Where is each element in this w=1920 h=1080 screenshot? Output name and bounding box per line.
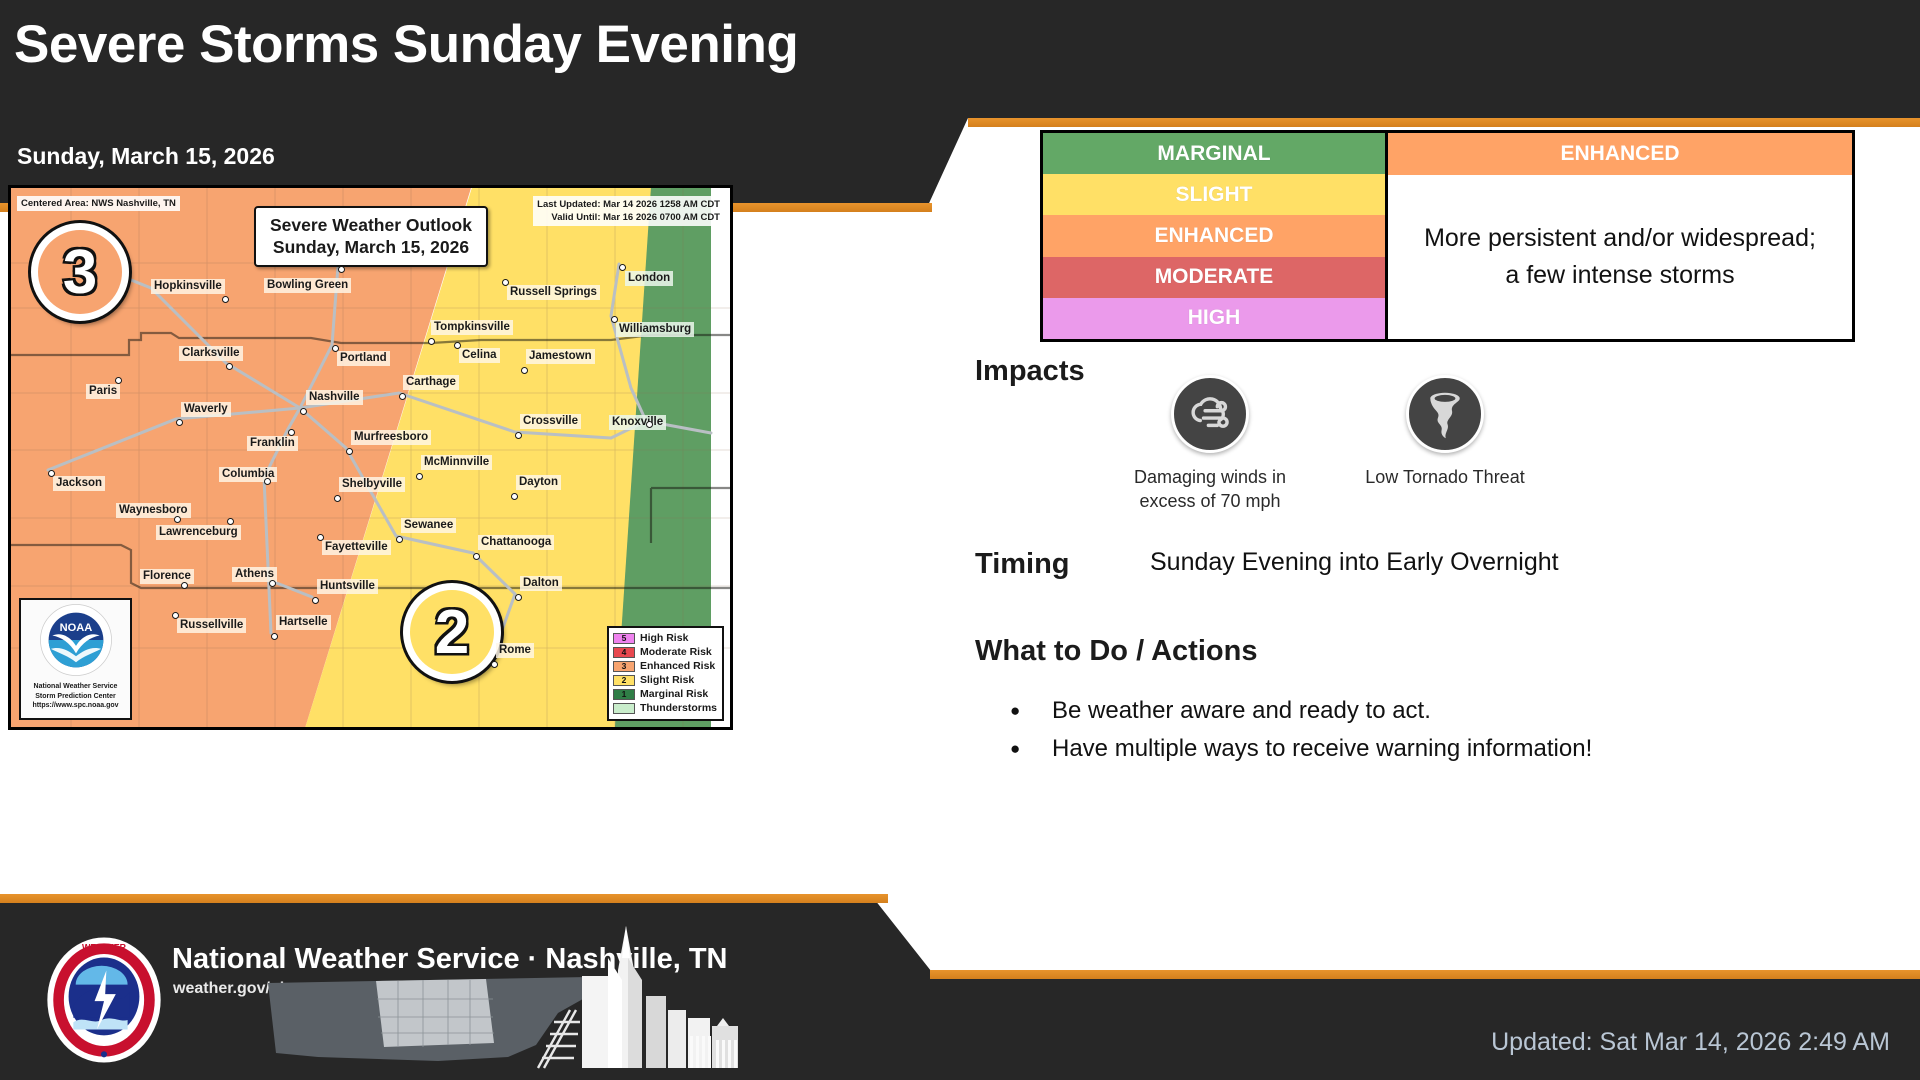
city-marker-dot [428, 338, 435, 345]
map-valid-until: Valid Until: Mar 16 2026 0700 AM CDT [537, 211, 720, 224]
risk-level-table: MARGINALSLIGHTENHANCEDMODERATEHIGH ENHAN… [1040, 130, 1855, 342]
city-marker-dot [181, 582, 188, 589]
tornado-icon [1406, 375, 1484, 453]
map-risk-legend: 5High Risk4Moderate Risk3Enhanced Risk2S… [607, 626, 724, 721]
risk-scale-row-slight: SLIGHT [1043, 174, 1385, 215]
map-legend-row: 2Slight Risk [613, 673, 717, 687]
map-last-updated: Last Updated: Mar 14 2026 1258 AM CDT [537, 198, 720, 211]
city-label: London [625, 271, 673, 286]
city-label: Jamestown [526, 349, 595, 364]
map-legend-row: 5High Risk [613, 631, 717, 645]
city-label: Fayetteville [322, 540, 391, 555]
city-label: Sewanee [401, 518, 456, 533]
risk-badge-3: 3 [31, 223, 129, 321]
city-marker-dot [222, 296, 229, 303]
map-centered-area-label: Centered Area: NWS Nashville, TN [17, 196, 180, 211]
city-marker-dot [332, 345, 339, 352]
city-marker-dot [416, 473, 423, 480]
map-title-line2: Sunday, March 15, 2026 [270, 236, 472, 258]
city-marker-dot [346, 448, 353, 455]
city-label: Paris [86, 384, 120, 399]
impacts-heading: Impacts [975, 355, 1085, 388]
city-label: Portland [337, 351, 390, 366]
city-marker-dot [473, 553, 480, 560]
city-label: Bowling Green [264, 278, 351, 293]
page-title: Severe Storms Sunday Evening [14, 14, 798, 75]
city-label: Tompkinsville [431, 320, 513, 335]
map-canvas: Centered Area: NWS Nashville, TN Last Up… [11, 188, 730, 727]
city-label: Carthage [403, 375, 459, 390]
city-label: Jackson [53, 476, 105, 491]
city-marker-dot [399, 393, 406, 400]
city-label: Nashville [306, 390, 363, 405]
legend-label: Marginal Risk [640, 688, 708, 700]
impact-item-tornado: Low Tornado Threat [1345, 375, 1545, 489]
legend-swatch: 5 [613, 633, 635, 644]
city-marker-dot [502, 279, 509, 286]
city-marker-dot [264, 478, 271, 485]
city-label: Rome [496, 643, 534, 658]
city-label: Knoxville [609, 415, 666, 430]
legend-swatch: 2 [613, 675, 635, 686]
city-marker-dot [515, 594, 522, 601]
city-label: Dalton [520, 576, 562, 591]
noaa-line-2: Storm Prediction Center [21, 692, 130, 702]
city-marker-dot [172, 612, 179, 619]
nws-seal-icon: WEATHER [45, 935, 163, 1065]
city-label: Lawrenceburg [156, 525, 241, 540]
legend-swatch [613, 703, 635, 714]
impact-item-wind: Damaging winds in excess of 70 mph [1110, 375, 1310, 513]
city-label: Franklin [247, 436, 298, 451]
city-marker-dot [396, 536, 403, 543]
noaa-seal-icon: NOAA [39, 603, 113, 677]
nashville-skyline-graphic [530, 918, 765, 1080]
impact-caption-wind: Damaging winds in excess of 70 mph [1110, 465, 1310, 513]
selected-risk-header: ENHANCED [1388, 133, 1852, 175]
wind-cloud-icon [1171, 375, 1249, 453]
city-label: Chattanooga [478, 535, 554, 550]
timing-value: Sunday Evening into Early Overnight [1150, 548, 1559, 577]
legend-label: Moderate Risk [640, 646, 712, 658]
map-validity-box: Last Updated: Mar 14 2026 1258 AM CDT Va… [533, 196, 724, 226]
city-label: Celina [459, 348, 500, 363]
severe-weather-outlook-map[interactable]: Centered Area: NWS Nashville, TN Last Up… [8, 185, 733, 730]
city-marker-dot [619, 264, 626, 271]
actions-list: Be weather aware and ready to act.Have m… [1010, 692, 1592, 768]
risk-scale-row-moderate: MODERATE [1043, 257, 1385, 298]
legend-label: Thunderstorms [640, 702, 717, 714]
city-marker-dot [338, 266, 345, 273]
city-marker-dot [491, 661, 498, 668]
city-marker-dot [646, 421, 653, 428]
city-marker-dot [521, 367, 528, 374]
city-marker-dot [611, 316, 618, 323]
city-marker-dot [317, 534, 324, 541]
header-accent-bar-top [968, 118, 1920, 127]
risk-detail-column: ENHANCED More persistent and/or widespre… [1385, 133, 1852, 339]
city-label: Russellville [177, 618, 246, 633]
noaa-logo-box: NOAA National Weather Service Storm Pred… [19, 598, 132, 720]
city-marker-dot [515, 432, 522, 439]
impact-caption-tornado: Low Tornado Threat [1345, 465, 1545, 489]
city-marker-dot [176, 419, 183, 426]
risk-scale-column: MARGINALSLIGHTENHANCEDMODERATEHIGH [1043, 133, 1385, 339]
noaa-line-1: National Weather Service [21, 682, 130, 692]
city-label: McMinnville [421, 455, 492, 470]
page-subtitle: Sunday, March 15, 2026 [17, 143, 275, 170]
legend-swatch: 1 [613, 689, 635, 700]
selected-risk-description: More persistent and/or widespread; a few… [1388, 175, 1852, 339]
city-label: Huntsville [317, 579, 378, 594]
legend-label: Enhanced Risk [640, 660, 715, 672]
legend-label: Slight Risk [640, 674, 694, 686]
legend-swatch: 3 [613, 661, 635, 672]
city-marker-dot [312, 597, 319, 604]
action-item: Be weather aware and ready to act. [1010, 692, 1592, 730]
city-label: Williamsburg [616, 322, 694, 337]
timing-heading: Timing [975, 548, 1070, 581]
city-marker-dot [115, 377, 122, 384]
svg-text:WEATHER: WEATHER [82, 942, 127, 952]
noaa-line-3: https://www.spc.noaa.gov [21, 701, 130, 711]
city-label: Murfreesboro [351, 430, 431, 445]
map-legend-row: 1Marginal Risk [613, 687, 717, 701]
city-label: Hartselle [276, 615, 331, 630]
city-marker-dot [227, 518, 234, 525]
risk-badge-2: 2 [403, 583, 501, 681]
city-marker-dot [511, 493, 518, 500]
footer-updated-timestamp: Updated: Sat Mar 14, 2026 2:49 AM [1491, 1028, 1890, 1057]
city-marker-dot [288, 429, 295, 436]
city-label: Hopkinsville [151, 279, 225, 294]
footer-accent-bar-right [930, 970, 1920, 979]
action-item: Have multiple ways to receive warning in… [1010, 730, 1592, 768]
map-legend-row: 4Moderate Risk [613, 645, 717, 659]
city-label: Russell Springs [507, 285, 600, 300]
city-marker-dot [454, 342, 461, 349]
map-title-line1: Severe Weather Outlook [270, 214, 472, 236]
city-label: Shelbyville [339, 477, 405, 492]
city-label: Dayton [516, 475, 561, 490]
city-label: Crossville [520, 414, 581, 429]
actions-heading: What to Do / Actions [975, 635, 1257, 668]
svg-text:NOAA: NOAA [59, 622, 92, 634]
city-marker-dot [226, 363, 233, 370]
risk-scale-row-marginal: MARGINAL [1043, 133, 1385, 174]
city-marker-dot [174, 516, 181, 523]
map-title-box: Severe Weather Outlook Sunday, March 15,… [254, 206, 488, 267]
risk-scale-row-high: HIGH [1043, 298, 1385, 339]
legend-label: High Risk [640, 632, 688, 644]
city-marker-dot [269, 580, 276, 587]
map-legend-row: 3Enhanced Risk [613, 659, 717, 673]
city-marker-dot [48, 470, 55, 477]
city-label: Clarksville [179, 346, 243, 361]
map-legend-row: Thunderstorms [613, 701, 717, 715]
risk-scale-row-enhanced: ENHANCED [1043, 215, 1385, 256]
city-marker-dot [300, 408, 307, 415]
city-label: Waverly [181, 402, 231, 417]
city-marker-dot [271, 633, 278, 640]
city-marker-dot [334, 495, 341, 502]
legend-swatch: 4 [613, 647, 635, 658]
footer-accent-bar-left [0, 894, 888, 903]
